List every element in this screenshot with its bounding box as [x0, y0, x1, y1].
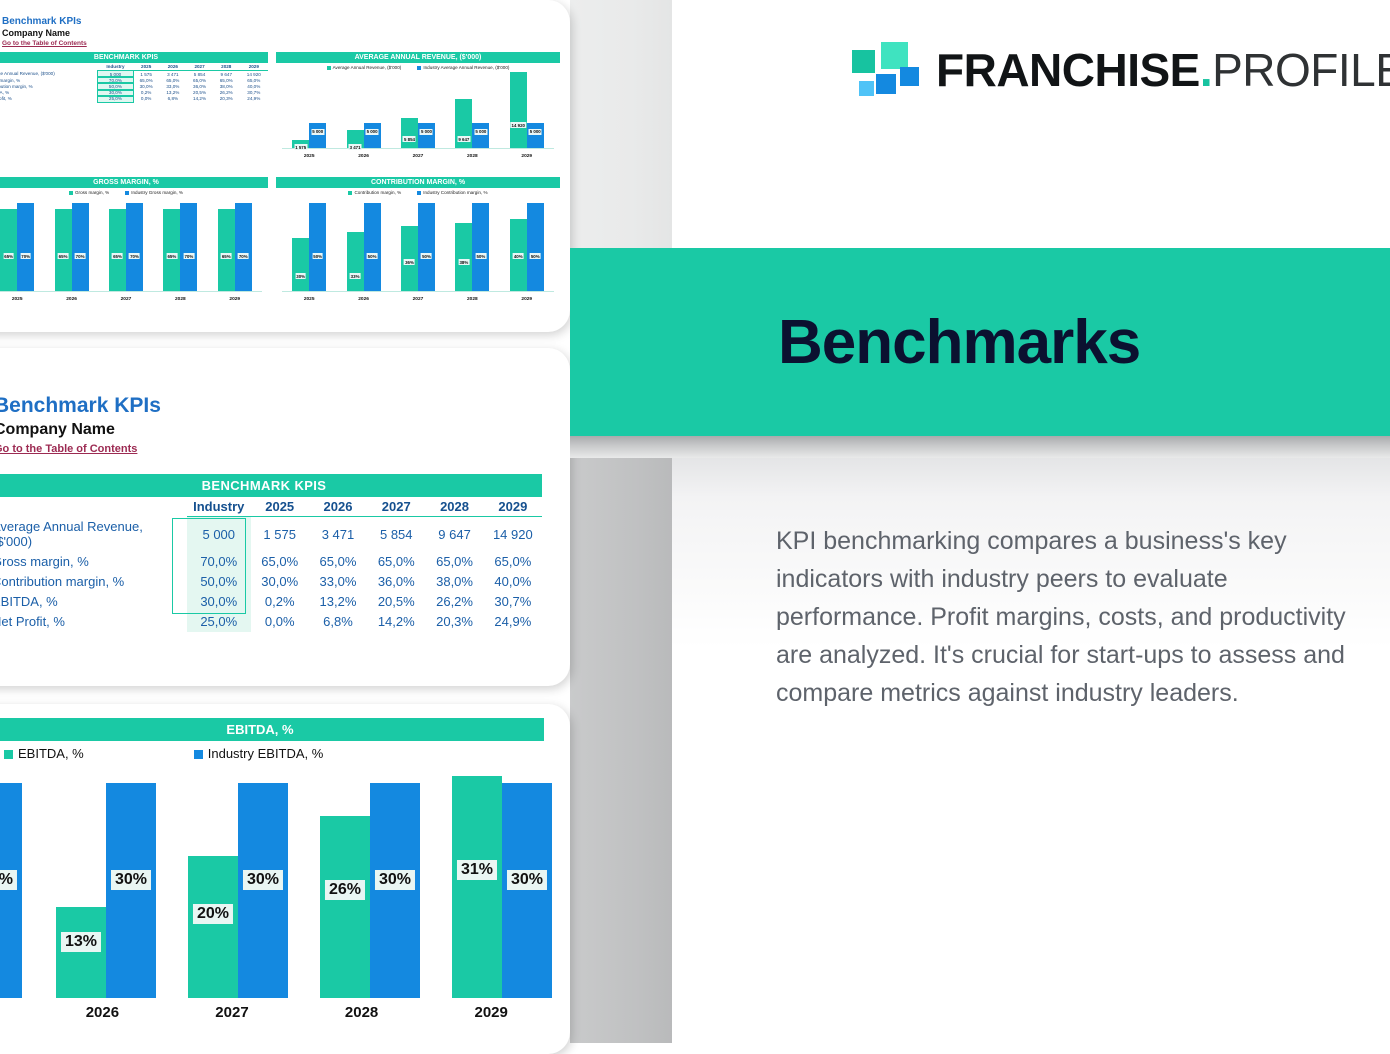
bar-group: 38%50%: [455, 196, 489, 291]
x-tick: 2026: [52, 297, 92, 302]
mini-cell: 20,3%: [213, 96, 240, 102]
ebitda-chart-plot: 0% 30% 13% 30% 20% 30% 26% 30% 31% 30%: [0, 776, 540, 998]
mini-th-blank: [0, 63, 98, 71]
cell-2029: 40,0%: [484, 572, 542, 592]
cell-2028: 9 647: [425, 517, 483, 552]
bar-company: 14 920: [510, 72, 527, 148]
bar-group: 65%70%: [163, 196, 197, 291]
table-row: Average Annual Revenue, ($'000)5 0001 57…: [0, 71, 268, 78]
mini-cell: 14 920: [240, 71, 268, 78]
mini-th-2029: 2029: [240, 63, 268, 71]
ebitda-chart-xaxis: 2025 2026 2027 2028 2029: [0, 1004, 540, 1021]
cell-industry: 30,0%: [187, 592, 251, 612]
row-label-gross-margin: Gross margin, %: [0, 552, 187, 572]
x-tick: 2027: [106, 297, 146, 302]
bar-company: 65%: [0, 209, 17, 291]
mini-th-2026: 2026: [160, 63, 187, 71]
bar-group: 33%50%: [347, 196, 381, 291]
logo-square-3: [859, 81, 874, 96]
logo-wordmark: FRANCHISE.PROFILES: [936, 43, 1390, 97]
mini-table-header-row: Industry 2025 2026 2027 2028 2029: [0, 63, 268, 71]
ebitda-chart-legend: EBITDA, % Industry EBITDA, %: [4, 746, 424, 761]
cell-industry: 5 000: [187, 517, 251, 552]
bar-group-2026: 13% 30%: [56, 776, 156, 998]
legend-swatch-blue: [417, 66, 421, 70]
section-description: KPI benchmarking compares a business's k…: [776, 522, 1356, 712]
mini-row-label: Average Annual Revenue, ($'000): [0, 71, 98, 78]
bar-industry: 5 000: [472, 123, 489, 148]
cell-2028: 38,0%: [425, 572, 483, 592]
x-tick: 2028: [452, 154, 492, 159]
bar-company-2029: 31%: [452, 776, 502, 998]
bar-company: 65%: [163, 209, 180, 291]
sheet-title: Benchmark KPIs: [0, 394, 161, 418]
mini-th-2027: 2027: [186, 63, 213, 71]
bar-industry-2029: 30%: [502, 783, 552, 998]
bar-company: 33%: [347, 232, 364, 291]
logo-word-franchise: FRANCHISE: [936, 44, 1200, 96]
mini-chart-contribution-margin-title: CONTRIBUTION MARGIN, %: [276, 177, 560, 188]
logo-square-1: [852, 50, 875, 73]
section-banner: Benchmarks: [570, 248, 1390, 436]
bar-company: 30%: [292, 238, 309, 291]
sheet-company: Company Name: [0, 421, 161, 439]
bar-group: 36%50%: [401, 196, 435, 291]
bar-company-2028: 26%: [320, 816, 370, 998]
mini-chart-revenue-plot: 1 575 5 000 3 471 5 000 5 854 5 000 9 64…: [276, 71, 560, 165]
bar-industry: 70%: [235, 203, 252, 291]
mini-chart-revenue: AVERAGE ANNUAL REVENUE, ($'000) Average …: [276, 52, 560, 174]
mini-chart-contribution-margin: CONTRIBUTION MARGIN, % Contribution marg…: [276, 177, 560, 317]
bar-industry: 70%: [72, 203, 89, 291]
table-row: Average Annual Revenue, ($'000)5 0001 57…: [0, 517, 542, 552]
cell-2028: 26,2%: [425, 592, 483, 612]
bar-group: 40%50%: [510, 196, 544, 291]
cell-2029: 24,9%: [484, 612, 542, 632]
bar-company: 36%: [401, 226, 418, 291]
legend-label: Industry Gross margin, %: [131, 190, 183, 195]
legend-swatch-teal: [69, 191, 73, 195]
toc-link[interactable]: Go to the Table of Contents: [0, 443, 161, 455]
cell-2027: 5 854: [367, 517, 425, 552]
bar-group: 9 647 5 000: [455, 71, 489, 148]
mini-chart-revenue-xaxis: 2025 2026 2027 2028 2029: [282, 150, 554, 163]
legend-swatch-blue: [417, 191, 421, 195]
sheet-header: Benchmark KPIs Company Name Go to the Ta…: [0, 394, 161, 455]
mini-chart-revenue-title: AVERAGE ANNUAL REVENUE, ($'000): [276, 52, 560, 63]
bar-industry-2025: 30%: [0, 783, 22, 998]
bar-group: 65%70%: [55, 196, 89, 291]
legend-label: Industry EBITDA, %: [208, 746, 324, 761]
th-blank: [0, 497, 187, 517]
bar-group: 14 920 5 000: [510, 71, 544, 148]
logo-square-5: [900, 67, 919, 86]
bar-industry: 50%: [527, 203, 544, 291]
legend-item: Industry Contribution margin, %: [417, 190, 487, 195]
x-tick: 2026: [344, 154, 384, 159]
bar-company-2026: 13%: [56, 907, 106, 998]
bar-industry: 70%: [126, 203, 143, 291]
mini-chart-gross-margin-xaxis: 2025 2026 2027 2028 2029: [0, 293, 262, 306]
cell-2027: 14,2%: [367, 612, 425, 632]
table-row: Net Profit, %25,0%0,0%6,8%14,2%20,3%24,9…: [0, 612, 542, 632]
cell-2025: 30,0%: [251, 572, 309, 592]
bar-industry: 50%: [472, 203, 489, 291]
legend-item: Industry Gross margin, %: [125, 190, 183, 195]
cell-2029: 14 920: [484, 517, 542, 552]
mini-row-label: Net Profit, %: [0, 96, 98, 102]
cell-2026: 33,0%: [309, 572, 367, 592]
page-title: Benchmarks: [778, 307, 1140, 378]
mini-cell: 0,0%: [133, 96, 160, 102]
table-row: Net Profit, %25,0%0,0%6,8%14,2%20,3%24,9…: [0, 96, 268, 102]
x-tick: 2029: [215, 297, 255, 302]
row-label-ebitda: EBITDA, %: [0, 592, 187, 612]
bar-company-2027: 20%: [188, 856, 238, 998]
bar-industry-2028: 30%: [370, 783, 420, 998]
legend-label: Average Annual Revenue, ($'000): [333, 65, 402, 70]
mini-kpi-table-title: BENCHMARK KPIS: [0, 52, 268, 63]
bar-group: 65%70%: [109, 196, 143, 291]
cell-2029: 30,7%: [484, 592, 542, 612]
legend-item: Industry EBITDA, %: [194, 746, 324, 761]
cell-2027: 65,0%: [367, 552, 425, 572]
x-tick: 2028: [160, 297, 200, 302]
bar-company: 1 575: [292, 140, 309, 148]
mini-chart-gross-margin: GROSS MARGIN, % Gross margin, % Industry…: [0, 177, 268, 317]
bar-industry: 5 000: [527, 123, 544, 148]
logo-squares-icon: [852, 42, 918, 98]
x-tick-2029: 2029: [442, 1004, 540, 1021]
logo-dot: .: [1200, 44, 1212, 96]
bar-industry-2026: 30%: [106, 783, 156, 998]
banner-shadow: [570, 436, 1390, 458]
mini-th-industry: Industry: [98, 63, 133, 71]
cell-2028: 20,3%: [425, 612, 483, 632]
cell-2025: 0,0%: [251, 612, 309, 632]
legend-label: Industry Average Annual Revenue, ($'000): [423, 65, 509, 70]
x-tick-2025: 2025: [0, 1004, 20, 1021]
th-2026: 2026: [309, 497, 367, 517]
logo-square-4: [876, 74, 896, 94]
mini-chart-gross-margin-title: GROSS MARGIN, %: [0, 177, 268, 188]
mini-cell-industry: 25,0%: [98, 96, 133, 102]
x-tick: 2026: [344, 297, 384, 302]
legend-item: Industry Average Annual Revenue, ($'000): [417, 65, 509, 70]
mini-chart-contribution-margin-legend: Contribution margin, % Industry Contribu…: [276, 190, 560, 195]
cell-2026: 13,2%: [309, 592, 367, 612]
cell-2029: 65,0%: [484, 552, 542, 572]
th-industry: Industry: [187, 497, 251, 517]
legend-item: Gross margin, %: [69, 190, 109, 195]
sheet-company-mini: Company Name: [2, 28, 87, 38]
table-header-row: Industry 2025 2026 2027 2028 2029: [0, 497, 542, 517]
bar-industry-2027: 30%: [238, 783, 288, 998]
cell-2025: 1 575: [251, 517, 309, 552]
bar-company: 9 647: [455, 99, 472, 148]
mini-chart-contribution-margin-plot: 30%50% 33%50% 36%50% 38%50% 40%50% 2025 …: [276, 196, 560, 308]
franchise-profiles-logo: FRANCHISE.PROFILES: [852, 42, 1390, 98]
ebitda-chart-title: EBITDA, %: [0, 718, 544, 741]
x-tick: 2028: [452, 297, 492, 302]
legend-swatch-teal: [348, 191, 352, 195]
th-2025: 2025: [251, 497, 309, 517]
mini-kpi-table-panel: BENCHMARK KPIS Industry 2025 2026 2027 2…: [0, 52, 268, 174]
bar-company: 65%: [55, 209, 72, 291]
logo-square-2: [881, 42, 908, 69]
grey-vertical-strip-lower: [570, 437, 672, 1043]
slide-card-kpi-table[interactable]: Benchmark KPIs Company Name Go to the Ta…: [0, 348, 570, 686]
logo-word-profiles: PROFILES: [1212, 44, 1390, 96]
bar-industry: 50%: [418, 203, 435, 291]
table-row: Gross margin, %70,0%65,0%65,0%65,0%65,0%…: [0, 552, 542, 572]
mini-cell: 6,8%: [160, 96, 187, 102]
bar-company: 3 471: [347, 130, 364, 148]
legend-label: Contribution margin, %: [354, 190, 401, 195]
cell-2025: 65,0%: [251, 552, 309, 572]
bar-group-2028: 26% 30%: [320, 776, 420, 998]
mini-cell: 9 647: [213, 71, 240, 78]
bar-group: 3 471 5 000: [347, 71, 381, 148]
mini-cell: 14,2%: [186, 96, 213, 102]
bar-group: 5 854 5 000: [401, 71, 435, 148]
mini-cell-industry: 5 000: [98, 71, 133, 78]
bar-industry: 5 000: [364, 123, 381, 148]
mini-th-2028: 2028: [213, 63, 240, 71]
legend-item: Average Annual Revenue, ($'000): [327, 65, 402, 70]
cell-2026: 6,8%: [309, 612, 367, 632]
bar-industry: 50%: [364, 203, 381, 291]
kpi-table: Industry 2025 2026 2027 2028 2029 Averag…: [0, 497, 542, 632]
sheet-header-mini: Benchmark KPIs Company Name Go to the Ta…: [2, 16, 87, 47]
bar-group: 65%70%: [0, 196, 34, 291]
legend-item: EBITDA, %: [4, 746, 84, 761]
bar-company: 40%: [510, 219, 527, 291]
x-tick: 2027: [398, 154, 438, 159]
bar-group-2027: 20% 30%: [188, 776, 288, 998]
th-2028: 2028: [425, 497, 483, 517]
bar-group: 65%70%: [218, 196, 252, 291]
cell-industry: 50,0%: [187, 572, 251, 592]
cell-industry: 25,0%: [187, 612, 251, 632]
bar-company: 5 854: [401, 118, 418, 148]
slide-card-ebitda-chart[interactable]: EBITDA, % EBITDA, % Industry EBITDA, % 0…: [0, 704, 570, 1054]
bar-industry: 5 000: [309, 123, 326, 148]
cell-2027: 36,0%: [367, 572, 425, 592]
bar-industry: 70%: [180, 203, 197, 291]
slide-card-dashboard[interactable]: Benchmark KPIs Company Name Go to the Ta…: [0, 0, 570, 332]
kpi-table-panel: BENCHMARK KPIS Industry 2025 2026 2027 2…: [0, 474, 542, 632]
bar-company: 38%: [455, 223, 472, 291]
legend-swatch-blue: [125, 191, 129, 195]
bar-industry: 70%: [17, 203, 34, 291]
legend-swatch-blue: [194, 750, 203, 759]
bar-company: 65%: [218, 209, 235, 291]
mini-cell: 1 575: [133, 71, 160, 78]
cell-2026: 3 471: [309, 517, 367, 552]
mini-kpi-table: Industry 2025 2026 2027 2028 2029 Averag…: [0, 63, 268, 102]
table-row: EBITDA, %30,0%0,2%13,2%20,5%26,2%30,7%: [0, 592, 542, 612]
mini-th-2025: 2025: [133, 63, 160, 71]
legend-swatch-teal: [327, 66, 331, 70]
x-tick: 2025: [0, 297, 37, 302]
bar-group: 30%50%: [292, 196, 326, 291]
th-2027: 2027: [367, 497, 425, 517]
x-tick: 2029: [507, 154, 547, 159]
x-tick-2026: 2026: [54, 1004, 152, 1021]
legend-label: EBITDA, %: [18, 746, 84, 761]
mini-cell: 3 471: [160, 71, 187, 78]
cell-2025: 0,2%: [251, 592, 309, 612]
cell-2027: 20,5%: [367, 592, 425, 612]
row-label-contribution-margin: Contribution margin, %: [0, 572, 187, 592]
row-label-net-profit: Net Profit, %: [0, 612, 187, 632]
bar-company: 65%: [109, 209, 126, 291]
legend-label: Industry Contribution margin, %: [423, 190, 487, 195]
legend-swatch-teal: [4, 750, 13, 759]
mini-chart-revenue-legend: Average Annual Revenue, ($'000) Industry…: [276, 65, 560, 70]
kpi-table-title: BENCHMARK KPIS: [0, 474, 542, 497]
bar-group: 1 575 5 000: [292, 71, 326, 148]
mini-chart-contribution-margin-xaxis: 2025 2026 2027 2028 2029: [282, 293, 554, 306]
x-tick: 2025: [289, 154, 329, 159]
th-2029: 2029: [484, 497, 542, 517]
legend-item: Contribution margin, %: [348, 190, 401, 195]
cell-2026: 65,0%: [309, 552, 367, 572]
x-tick: 2025: [289, 297, 329, 302]
toc-link-mini[interactable]: Go to the Table of Contents: [2, 40, 87, 47]
mini-cell: 5 854: [186, 71, 213, 78]
mini-chart-gross-margin-legend: Gross margin, % Industry Gross margin, %: [0, 190, 268, 195]
x-tick: 2027: [398, 297, 438, 302]
bar-industry: 50%: [309, 203, 326, 291]
bar-group-2029: 31% 30%: [452, 776, 552, 998]
mini-chart-gross-margin-plot: 65%70% 65%70% 65%70% 65%70% 65%70% 2025 …: [0, 196, 268, 308]
x-tick-2028: 2028: [313, 1004, 411, 1021]
mini-cell: 24,9%: [240, 96, 268, 102]
x-tick: 2029: [507, 297, 547, 302]
legend-label: Gross margin, %: [75, 190, 109, 195]
table-row: Contribution margin, %50,0%30,0%33,0%36,…: [0, 572, 542, 592]
row-label-revenue: Average Annual Revenue, ($'000): [0, 517, 187, 552]
bar-group-2025: 0% 30%: [0, 776, 22, 998]
cell-2028: 65,0%: [425, 552, 483, 572]
bar-industry: 5 000: [418, 123, 435, 148]
sheet-title-mini: Benchmark KPIs: [2, 16, 87, 27]
x-tick-2027: 2027: [183, 1004, 281, 1021]
cell-industry: 70,0%: [187, 552, 251, 572]
